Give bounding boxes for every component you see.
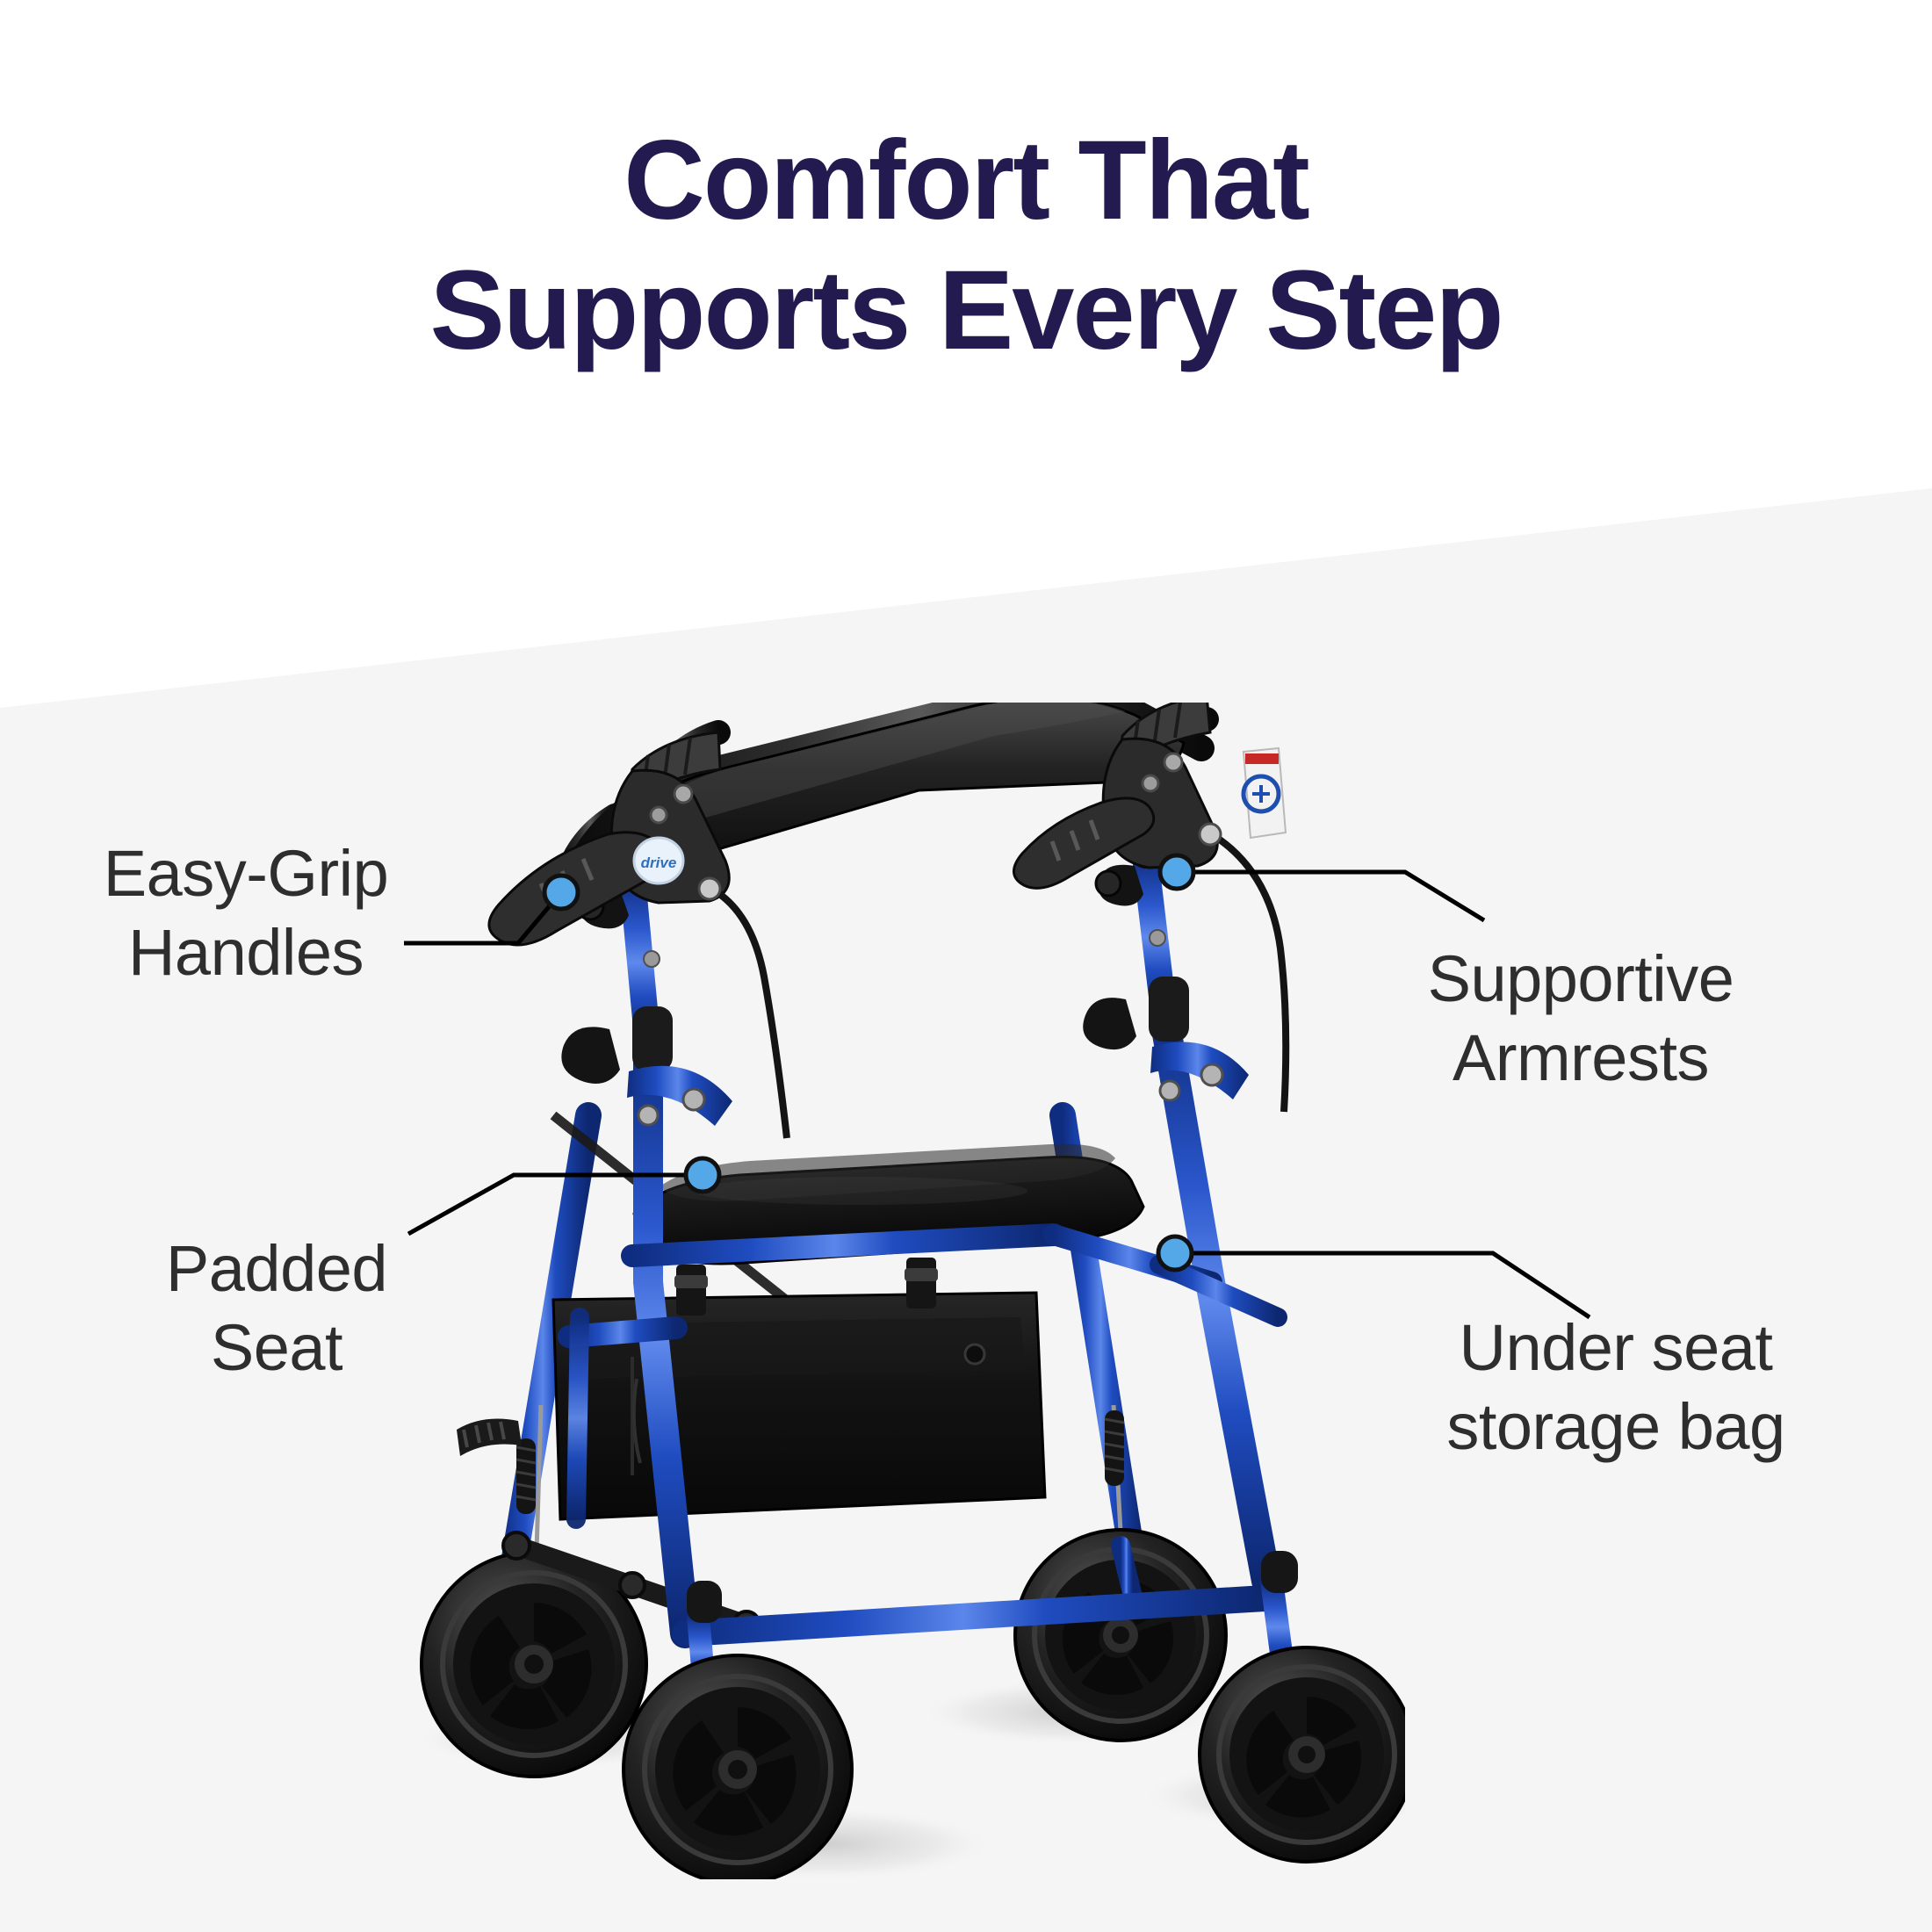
page-title: Comfort That Supports Every Step [0, 116, 1932, 377]
headline-line-1: Comfort That [624, 118, 1308, 243]
wheel-front-left [624, 1655, 852, 1879]
certification-label [1244, 748, 1286, 838]
infographic-canvas: Comfort That Supports Every Step [0, 0, 1932, 1932]
frame-hinge-clamps [561, 977, 1249, 1126]
headline-line-2: Supports Every Step [0, 246, 1932, 376]
callout-label-easy-grip-handles: Easy-Grip Handles [35, 834, 457, 993]
under-seat-storage-bag [553, 1258, 1045, 1519]
callout-label-supportive-armrests: Supportive Armrests [1317, 940, 1844, 1099]
callout-label-under-seat-storage-bag: Under seat storage bag [1344, 1308, 1888, 1467]
callout-label-padded-seat: Padded Seat [79, 1229, 474, 1388]
wheel-front-right [1200, 1647, 1405, 1862]
grip-brand-badge-left: drive [641, 854, 677, 871]
product-image-rollator-walker: drive drive [369, 703, 1405, 1879]
